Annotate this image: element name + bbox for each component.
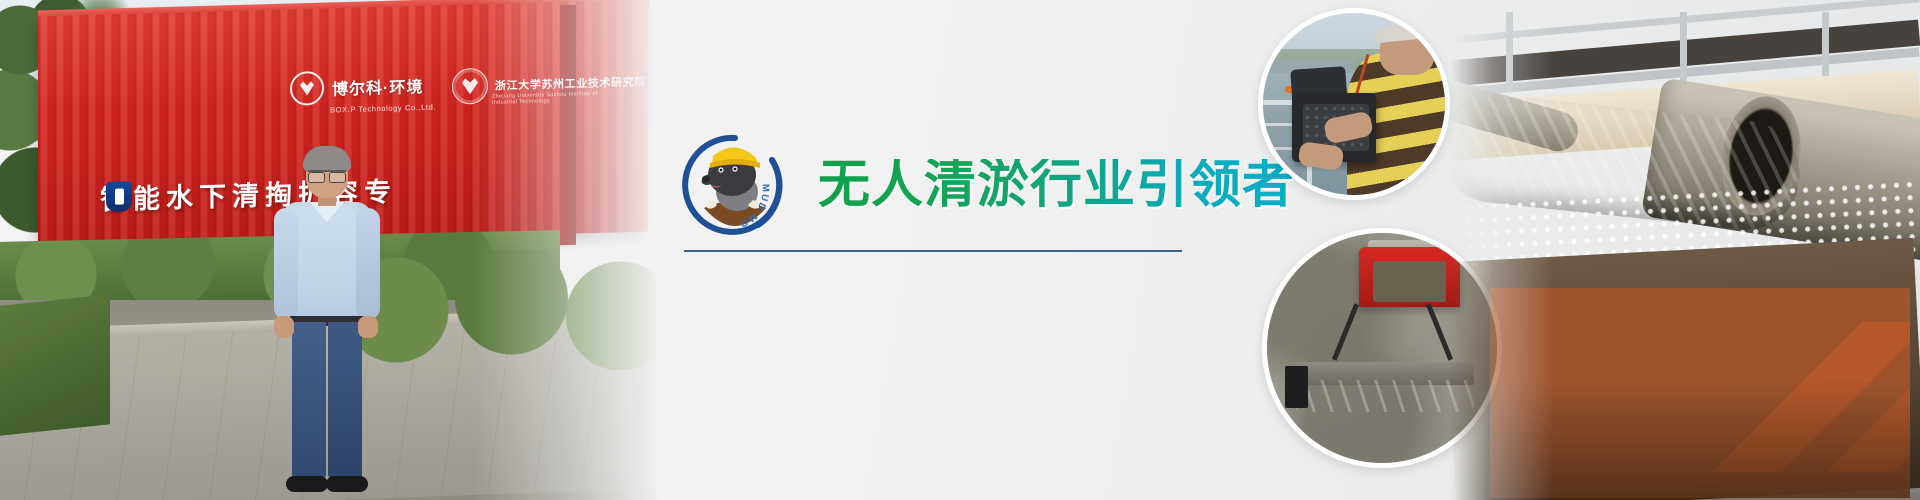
handrail-post: [1506, 12, 1513, 92]
banner-headline: 无人清淤行业引领者: [818, 159, 1295, 211]
engineer-hair: [303, 146, 351, 172]
engineer-arm-right: [356, 208, 380, 320]
engineer-shoe-right: [326, 476, 368, 492]
grass-patch: [0, 294, 110, 436]
brand-mark-icon: [290, 71, 324, 106]
university-seal-icon: [452, 68, 488, 105]
operator-photo: [1263, 13, 1445, 195]
headline-divider: [684, 250, 1182, 252]
container-brand-cn: 博尔科·环境: [332, 73, 423, 100]
engineer-hand-right: [358, 316, 378, 338]
robot-drive-box: [1285, 366, 1308, 407]
mud-mole-logo: MUD MOLE: [680, 130, 790, 240]
left-photo-engineer-container: 博尔科·环境 BOX.P Technology Co.,Ltd. 浙江大学苏州工…: [0, 0, 660, 500]
engineer-leg-right: [328, 322, 362, 480]
right-photo-sludge-discharge: [1450, 0, 1920, 500]
engineer-figure: [272, 150, 382, 500]
container-brand-logo: 博尔科·环境: [290, 68, 423, 106]
engineer-leg-left: [292, 322, 326, 480]
circle-photo-operator-console: [1258, 8, 1450, 200]
hero-banner: 博尔科·环境 BOX.P Technology Co.,Ltd. 浙江大学苏州工…: [0, 0, 1920, 500]
robot-inner-machinery: [1373, 261, 1447, 302]
engineer-hand-left: [274, 316, 294, 338]
container-end-panel: [560, 5, 576, 245]
engineer-shoe-left: [286, 476, 328, 492]
engineer-glasses: [308, 170, 346, 179]
slogan-badge-icon: [106, 181, 132, 212]
partner-name-cn: 浙江大学苏州工业技术研究院: [495, 73, 646, 93]
logo-and-headline-row: MUD MOLE 无人清淤行业引领者: [680, 130, 1295, 240]
robot-red-auger: [1295, 380, 1474, 412]
engineer-arm-left: [274, 208, 298, 320]
bottom-shadow: [1450, 380, 1920, 500]
